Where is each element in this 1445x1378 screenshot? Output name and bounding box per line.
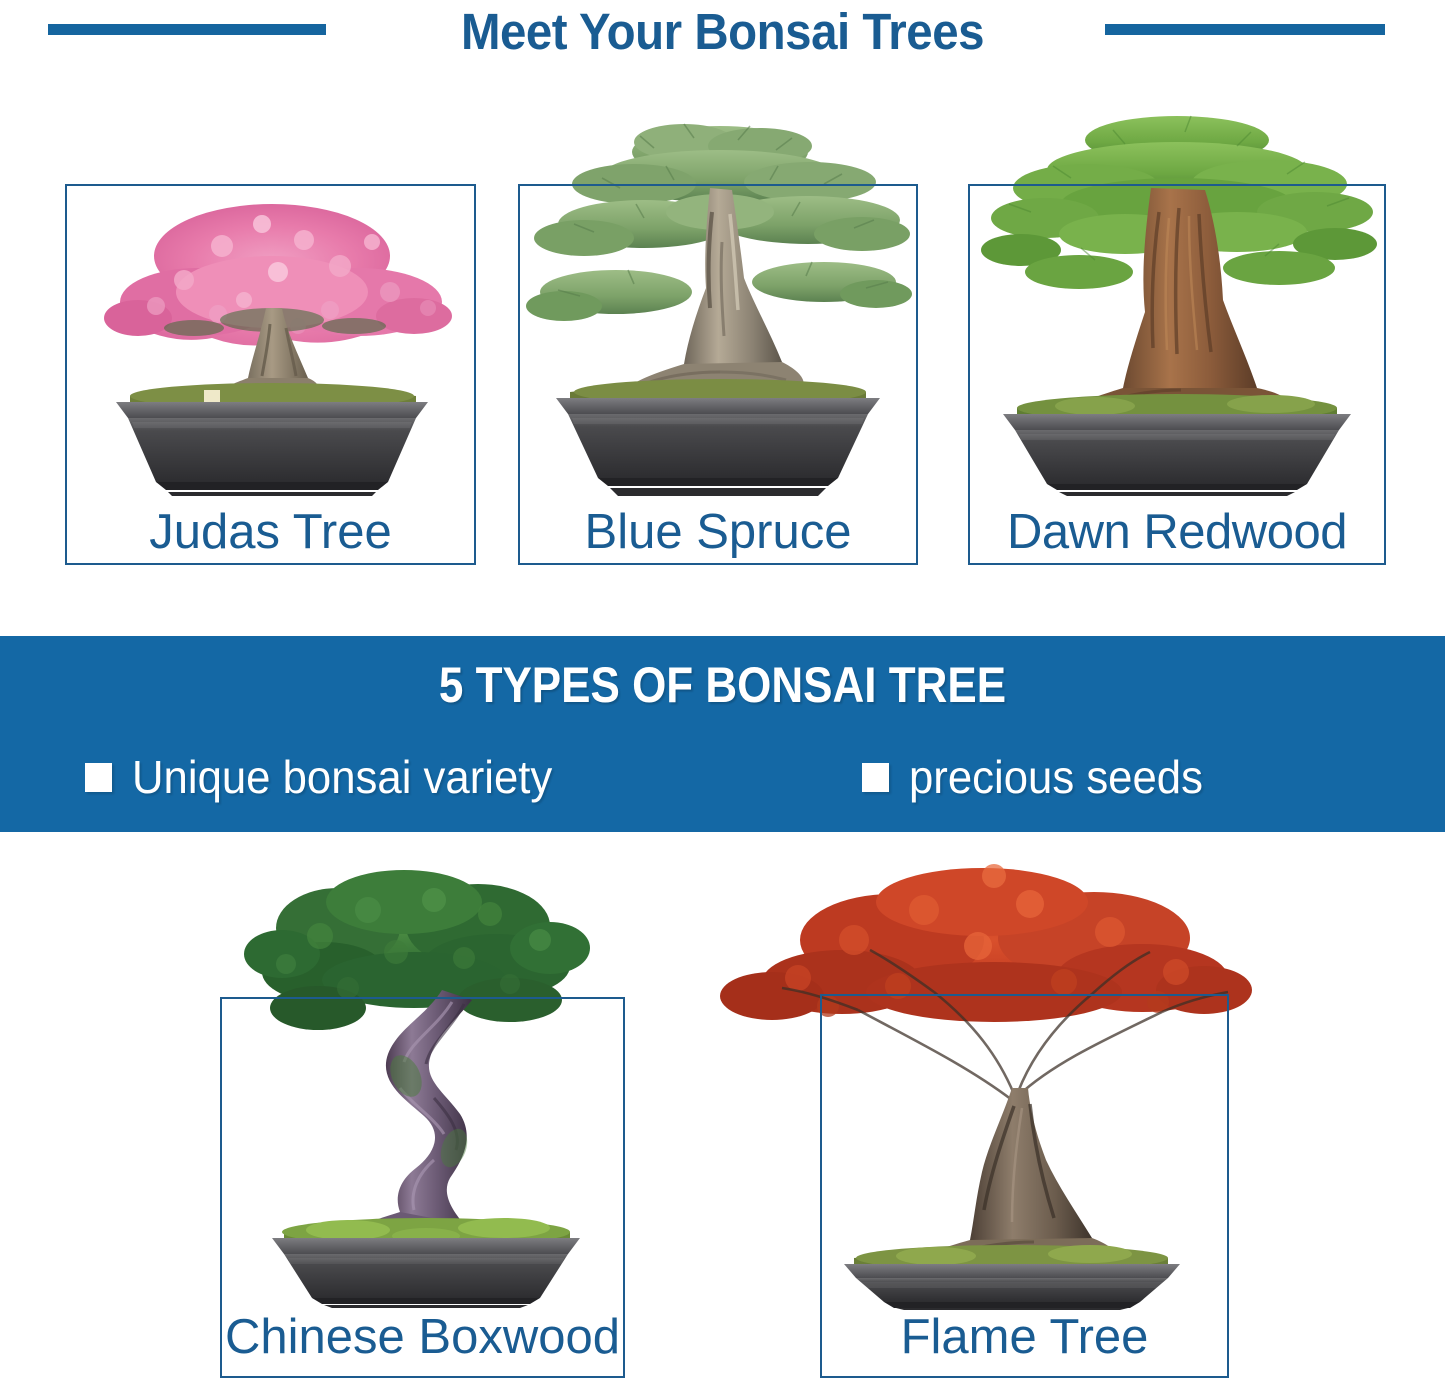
product-label-judas-tree: Judas Tree <box>67 508 474 557</box>
banner-bullet-unique-bonsai-variety: Unique bonsai variety <box>85 750 574 804</box>
banner-bullet-precious-seeds: precious seeds <box>862 750 1218 804</box>
product-label-chinese-boxwood: Chinese Boxwood <box>222 1313 623 1362</box>
page-title: Meet Your Bonsai Trees <box>51 0 1395 64</box>
product-card-chinese-boxwood[interactable]: Chinese Boxwood <box>220 997 625 1378</box>
product-card-dawn-redwood[interactable]: Dawn Redwood <box>968 184 1386 565</box>
product-label-dawn-redwood: Dawn Redwood <box>970 508 1384 557</box>
infographic-page: Meet Your Bonsai Trees <box>0 0 1445 1378</box>
product-label-flame-tree: Flame Tree <box>822 1313 1227 1362</box>
banner-bullet-row: Unique bonsai variety precious seeds <box>0 748 1445 818</box>
product-card-judas-tree[interactable]: Judas Tree <box>65 184 476 565</box>
square-bullet-icon <box>85 763 112 792</box>
banner-bullet-label: precious seeds <box>909 750 1203 804</box>
banner-title: 5 TYPES OF BONSAI TREE <box>87 656 1359 714</box>
product-card-flame-tree[interactable]: Flame Tree <box>820 994 1229 1378</box>
square-bullet-icon <box>862 763 889 792</box>
product-label-blue-spruce: Blue Spruce <box>520 508 916 557</box>
product-card-blue-spruce[interactable]: Blue Spruce <box>518 184 918 565</box>
feature-banner: 5 TYPES OF BONSAI TREE Unique bonsai var… <box>0 636 1445 832</box>
banner-bullet-label: Unique bonsai variety <box>132 750 552 804</box>
header: Meet Your Bonsai Trees <box>0 0 1445 72</box>
